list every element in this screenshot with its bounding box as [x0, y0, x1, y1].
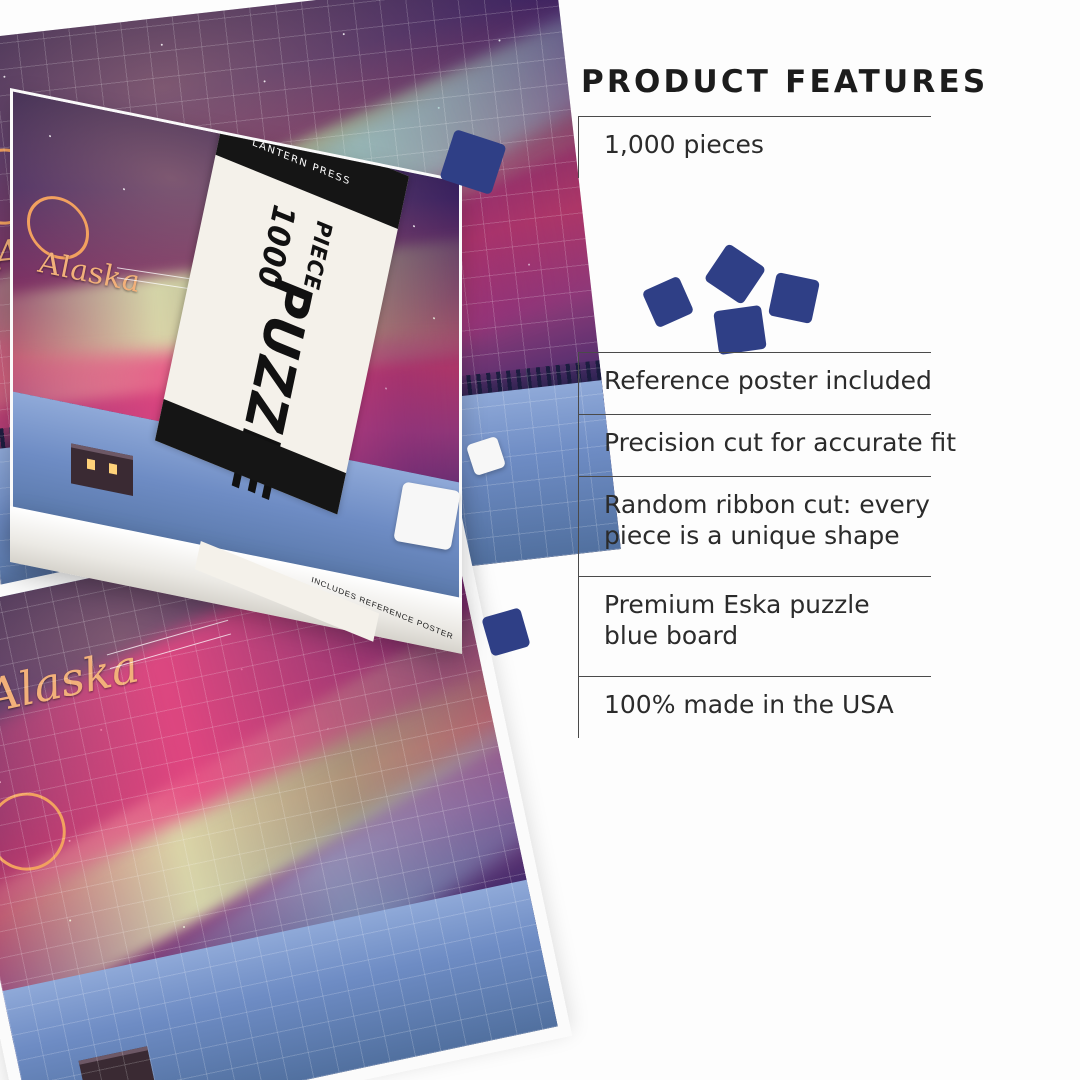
feature-text-1: 1,000 pieces — [604, 130, 1038, 161]
feature-rule-top-4 — [578, 476, 931, 477]
feature-rule-left-3 — [578, 414, 579, 476]
feature-rule-top-6 — [578, 676, 931, 677]
feature-rule-left-5 — [578, 576, 579, 676]
feature-item-5: Premium Eska puzzle blue board — [578, 576, 1038, 676]
feature-text-5: Premium Eska puzzle blue board — [604, 590, 1038, 651]
product-listing-image: Alaska — [0, 0, 1080, 1080]
feature-item-1: 1,000 pieces — [578, 116, 1038, 178]
band-top-cap: LANTERN PRESS — [216, 102, 409, 229]
feature-rule-top-5 — [578, 576, 931, 577]
feature-item-4: Random ribbon cut: every piece is a uniq… — [578, 476, 1038, 576]
feature-rule-top-3 — [578, 414, 931, 415]
brand-name: LANTERN PRESS — [251, 137, 352, 187]
feature-rule-left-6 — [578, 676, 579, 738]
feature-text-6: 100% made in the USA — [604, 690, 1038, 721]
feature-rule-left-2 — [578, 352, 579, 414]
features-panel: PRODUCT FEATURES 1,000 pieces Reference … — [578, 64, 1038, 864]
feature-item-2: Reference poster included — [578, 352, 1038, 414]
product-box: Alaska LANTERN PRESS 1000 PIECE PUZZLE — [2, 88, 472, 628]
feature-rule-top-1 — [578, 116, 931, 117]
feature-item-3: Precision cut for accurate fit — [578, 414, 1038, 476]
feature-rule-top-2 — [578, 352, 931, 353]
feature-text-2: Reference poster included — [604, 366, 1038, 397]
loose-piece-white — [393, 481, 461, 550]
features-title: PRODUCT FEATURES — [581, 64, 1038, 100]
feature-rule-left-4 — [578, 476, 579, 576]
piece-count-word: PIECE — [299, 217, 337, 294]
feature-text-3: Precision cut for accurate fit — [604, 428, 1038, 459]
feature-rule-left-1 — [578, 116, 579, 178]
feature-text-4: Random ribbon cut: every piece is a uniq… — [604, 490, 1038, 551]
feature-item-6: 100% made in the USA — [578, 676, 1038, 738]
